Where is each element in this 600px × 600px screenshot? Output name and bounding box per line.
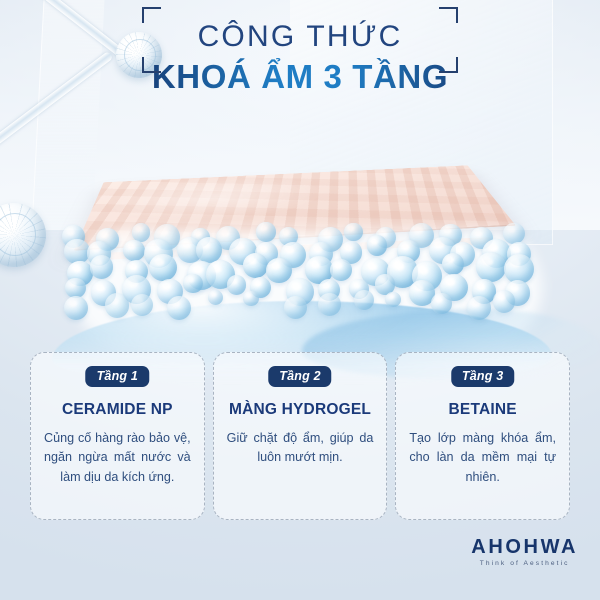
hydrogel-bead xyxy=(344,223,362,241)
hydrogel-bead xyxy=(123,240,144,261)
hydrogel-bead xyxy=(167,296,191,320)
title-line-2: KHOÁ ẨM 3 TẦNG xyxy=(0,58,600,97)
layer-title-2: MÀNG HYDROGEL xyxy=(225,401,376,420)
crystal-sphere-lower-icon xyxy=(0,203,46,267)
corner-bracket-right-icon xyxy=(432,7,458,73)
layer-card-list: Tầng 1 CERAMIDE NP Củng cố hàng rào bảo … xyxy=(30,352,570,520)
hydrogel-bead xyxy=(503,223,524,244)
hydrogel-bead xyxy=(64,296,88,320)
blue-hydrogel-bead-cluster xyxy=(52,223,552,355)
hydrogel-bead xyxy=(431,293,451,313)
layer-badge-2: Tầng 2 xyxy=(268,366,331,387)
layer-badge-3: Tầng 3 xyxy=(451,366,514,387)
hydrogel-bead xyxy=(243,253,268,278)
layer-card-2[interactable]: Tầng 2 MÀNG HYDROGEL Giữ chặt độ ẩm, giú… xyxy=(213,352,388,520)
title-line-1: CÔNG THỨC xyxy=(0,20,600,54)
hydrogel-bead xyxy=(284,296,307,319)
layer-body-2: Giữ chặt độ ẩm, giúp da luôn mướt mịn. xyxy=(225,429,376,468)
logo-wordmark: AHOHWA xyxy=(471,537,578,557)
hydrogel-bead xyxy=(90,255,113,278)
logo-tagline: Think of Aesthetic xyxy=(471,561,578,568)
hydrogel-bead xyxy=(149,254,177,282)
hydrogel-bead xyxy=(243,291,259,307)
corner-bracket-left-icon xyxy=(142,7,168,73)
poster-canvas: CÔNG THỨC KHOÁ ẨM 3 TẦNG Tầng 1 CERAMIDE… xyxy=(0,0,600,600)
layer-title-1: CERAMIDE NP xyxy=(42,401,193,420)
hydrogel-bead xyxy=(131,294,153,316)
layer-body-1: Củng cố hàng rào bảo vệ, ngăn ngừa mất n… xyxy=(42,429,193,488)
hydrogel-bead xyxy=(493,290,515,312)
layer-badge-1: Tầng 1 xyxy=(86,366,149,387)
layer-card-1[interactable]: Tầng 1 CERAMIDE NP Củng cố hàng rào bảo … xyxy=(30,352,205,520)
hero-illustration xyxy=(0,95,600,365)
hydrogel-bead xyxy=(105,293,129,317)
hydrogel-bead xyxy=(385,292,400,307)
brand-logo[interactable]: AHOHWA Think of Aesthetic xyxy=(471,537,578,568)
layer-title-3: BETAINE xyxy=(407,401,558,420)
hydrogel-bead xyxy=(132,223,151,242)
hydrogel-bead xyxy=(467,296,491,320)
page-title: CÔNG THỨC KHOÁ ẨM 3 TẦNG xyxy=(0,20,600,97)
hydrogel-bead xyxy=(318,293,341,316)
layer-card-3[interactable]: Tầng 3 BETAINE Tạo lớp màng khóa ẩm, cho… xyxy=(395,352,570,520)
layer-body-3: Tạo lớp màng khóa ẩm, cho làn da mềm mại… xyxy=(407,429,558,488)
hydrogel-bead xyxy=(256,222,276,242)
hydrogel-bead xyxy=(367,235,387,255)
hydrogel-bead xyxy=(330,259,352,281)
